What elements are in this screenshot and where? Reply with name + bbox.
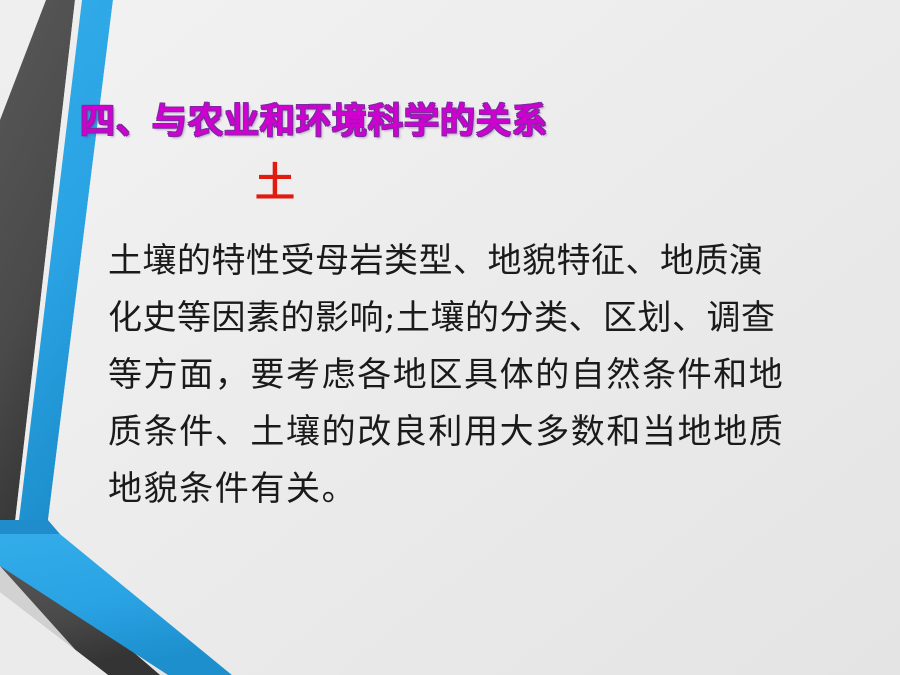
page-title: 四、与农业和环境科学的关系 xyxy=(80,93,548,144)
body-line-5: 地貌条件有关。 xyxy=(108,461,898,518)
accent-character: 土 xyxy=(255,163,295,203)
body-line-4: 质条件、土壤的改良利用大多数和当地地质 xyxy=(108,404,898,461)
body-line-3: 等方面，要考虑各地区具体的自然条件和地 xyxy=(108,347,898,404)
body-line-2: 化史等因素的影响;土壤的分类、区划、调查 xyxy=(108,290,898,347)
slide-canvas: 四、与农业和环境科学的关系 土 土壤的特性受母岩类型、地貌特征、地质演 化史等因… xyxy=(0,0,900,675)
slide-content: 四、与农业和环境科学的关系 土 土壤的特性受母岩类型、地貌特征、地质演 化史等因… xyxy=(0,0,900,675)
body-line-1: 土壤的特性受母岩类型、地貌特征、地质演 xyxy=(108,233,898,290)
body-text-block: 土壤的特性受母岩类型、地貌特征、地质演 化史等因素的影响;土壤的分类、区划、调查… xyxy=(108,233,898,518)
